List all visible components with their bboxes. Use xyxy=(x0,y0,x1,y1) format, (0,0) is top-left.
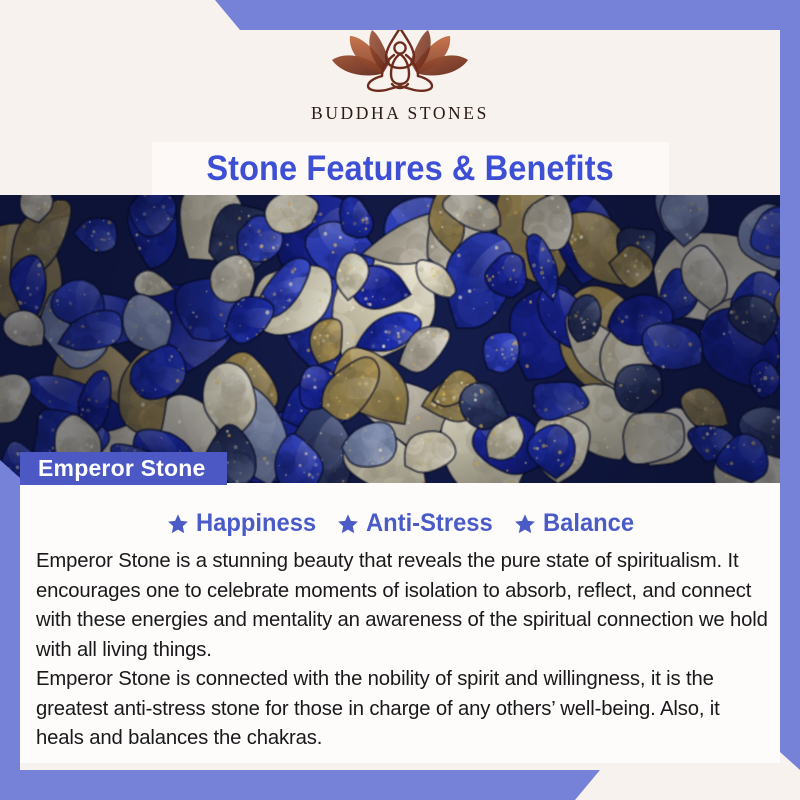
benefit-item: Happiness xyxy=(167,509,322,538)
lotus-meditation-icon xyxy=(324,24,476,94)
stone-photo-canvas xyxy=(0,195,800,483)
star-icon xyxy=(514,513,536,535)
benefit-item: Anti-Stress xyxy=(337,509,499,538)
lapis-lazuli-stones-photo xyxy=(0,195,800,483)
stone-badge-label: Emperor Stone xyxy=(38,455,205,482)
star-icon xyxy=(337,513,359,535)
description-paragraph-1: Emperor Stone is a stunning beauty that … xyxy=(36,547,770,665)
benefit-label: Anti-Stress xyxy=(366,509,493,538)
benefit-label: Happiness xyxy=(196,509,316,538)
description-paragraph-2: Emperor Stone is connected with the nobi… xyxy=(36,665,770,754)
description-text: Emperor Stone is a stunning beauty that … xyxy=(30,547,776,754)
star-icon xyxy=(167,513,189,535)
status-badge: Emperor Stone xyxy=(20,452,227,485)
page-title: Stone Features & Benefits xyxy=(207,149,614,189)
title-banner: Stone Features & Benefits xyxy=(152,142,669,195)
infographic-page: BUDDHA STONES Stone Features & Benefits … xyxy=(0,0,800,800)
content-panel: Happiness Anti-Stress Balance Emperor St… xyxy=(20,483,780,763)
benefit-label: Balance xyxy=(543,509,634,538)
benefit-item: Balance xyxy=(514,509,639,538)
benefits-row: Happiness Anti-Stress Balance xyxy=(30,509,776,538)
brand-wordmark: BUDDHA STONES xyxy=(311,103,489,124)
brand-header: BUDDHA STONES xyxy=(0,0,800,145)
frame-left-bar xyxy=(0,460,20,800)
frame-bottom-bar xyxy=(0,770,600,800)
